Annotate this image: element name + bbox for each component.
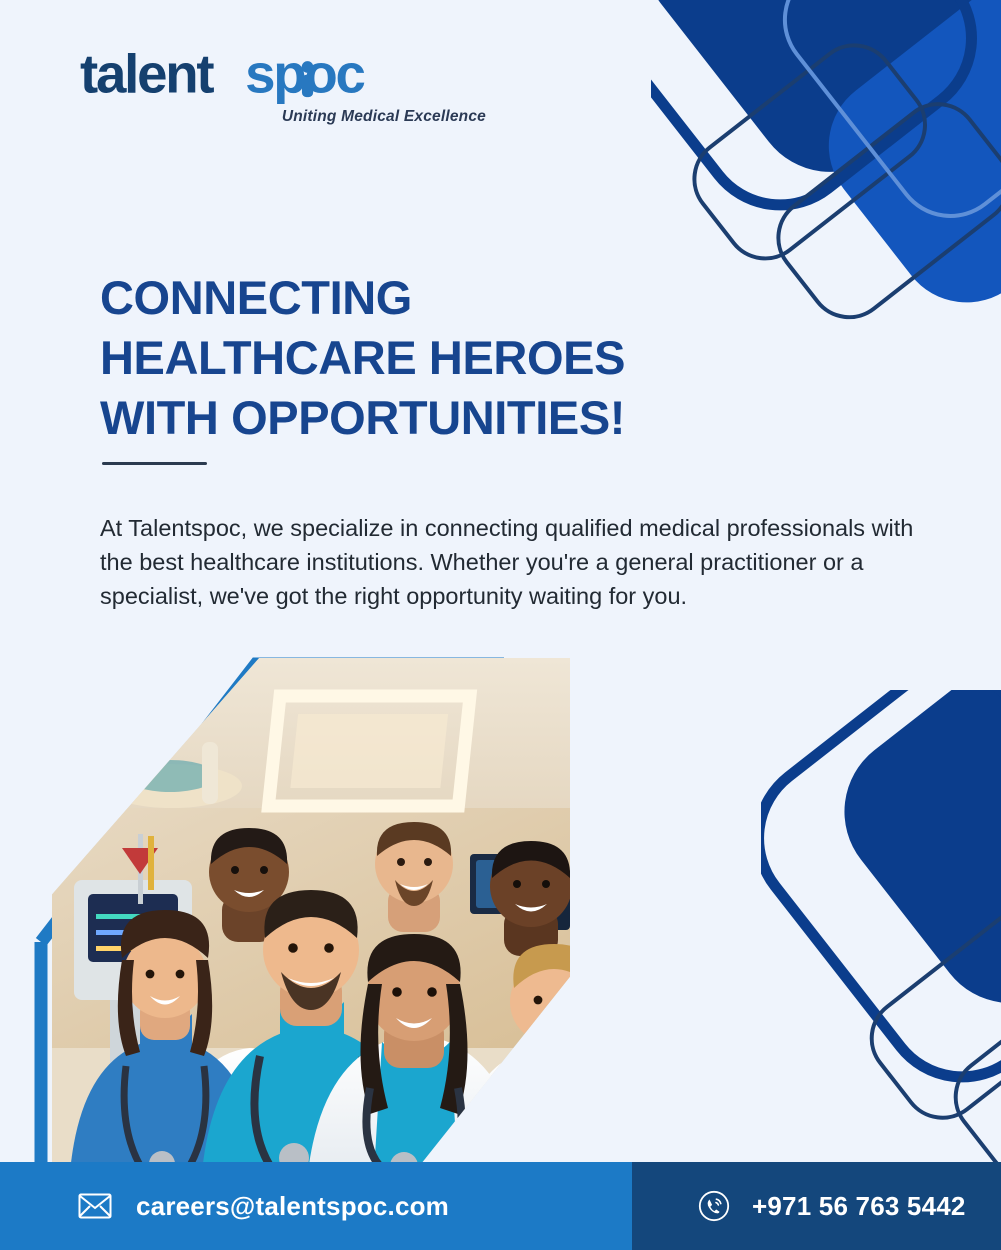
brand-tagline: Uniting Medical Excellence bbox=[80, 108, 500, 126]
logo-wordmark-icon: talent spoc bbox=[80, 48, 448, 106]
footer-email-section[interactable]: careers@talentspoc.com bbox=[0, 1162, 632, 1250]
team-photo-frame bbox=[34, 652, 574, 1172]
decor-shapes-bottom-right bbox=[761, 690, 1001, 1210]
brand-logo[interactable]: talent spoc Uniting Medical Excellence bbox=[80, 48, 500, 126]
phone-text[interactable]: +971 56 763 5442 bbox=[752, 1191, 966, 1222]
headline: CONNECTING HEALTHCARE HEROES WITH OPPORT… bbox=[100, 268, 800, 448]
body-paragraph: At Talentspoc, we specialize in connecti… bbox=[100, 511, 918, 613]
poster-canvas: talent spoc Uniting Medical Excellence C… bbox=[0, 0, 1001, 1250]
svg-text:talent: talent bbox=[80, 48, 214, 105]
headline-line-2: HEALTHCARE HEROES bbox=[100, 328, 800, 388]
headline-divider bbox=[102, 462, 207, 465]
footer-phone-section[interactable]: +971 56 763 5442 bbox=[632, 1162, 1001, 1250]
headline-line-3: WITH OPPORTUNITIES! bbox=[100, 388, 800, 448]
phone-icon bbox=[698, 1190, 730, 1222]
email-text[interactable]: careers@talentspoc.com bbox=[136, 1191, 449, 1222]
contact-footer: careers@talentspoc.com +971 56 763 5442 bbox=[0, 1162, 1001, 1250]
headline-line-1: CONNECTING bbox=[100, 268, 800, 328]
envelope-icon bbox=[78, 1193, 112, 1219]
